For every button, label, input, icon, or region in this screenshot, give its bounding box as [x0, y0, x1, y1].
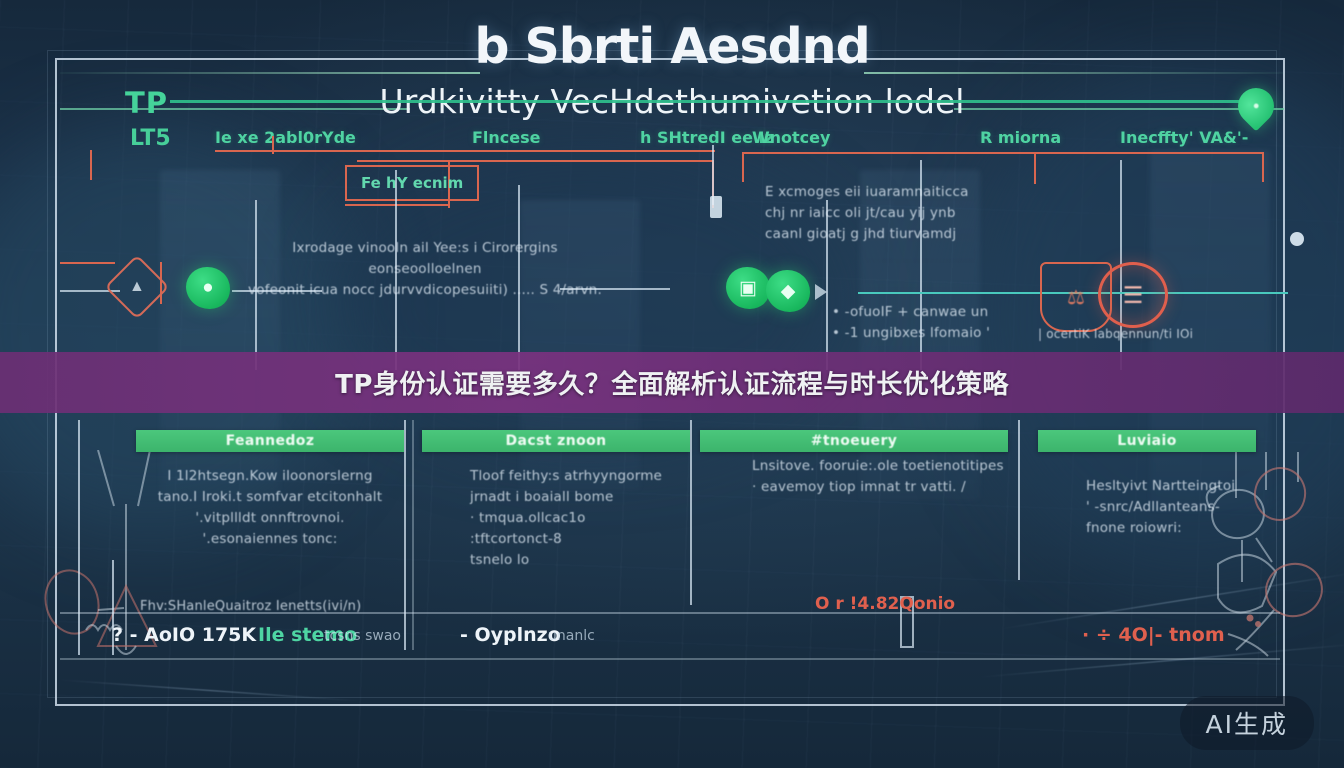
paragraph-left: Ixrodage vinooln ail Yee:s i Cirorergins… — [235, 238, 615, 301]
card-body-0: I 1l2htsegn.Kow iloonorslerng tano.I Iro… — [150, 466, 390, 550]
play-arrow-icon — [812, 282, 830, 302]
card-header-label-1: Dacst znoon — [506, 433, 607, 449]
poster-canvas: b Sbrti Aesdnd Urdkivitty VecHdethumivet… — [0, 0, 1344, 768]
connector-coral-h6 — [345, 204, 450, 206]
page-title: b Sbrti Aesdnd — [0, 18, 1344, 75]
tag-label-1: Flncese — [472, 128, 541, 147]
legend-item-1-sub2: tcsns swao — [324, 628, 401, 644]
node-dot-right[interactable] — [1290, 232, 1304, 246]
legend-left-note: Fhv:SHanleQuaitroz Ienetts(ivi/n) — [140, 597, 440, 617]
card-header-label-2: #tnoeuery — [811, 433, 898, 449]
card-header-2[interactable]: #tnoeuery — [700, 430, 1008, 452]
headline-banner: TP身份认证需要多久？全面解析认证流程与时长优化策略 — [0, 352, 1344, 413]
tag-label-5: Inecffty' VA&'- — [1120, 128, 1248, 147]
connector-coral-v5 — [1262, 152, 1264, 182]
card-body-2: Lnsitove. fooruie:.ole toetienotitipes ·… — [752, 456, 1032, 498]
paragraph-right-bullets: • -ofuoIF + canwae un • -1 ungibxes lfom… — [832, 302, 1062, 344]
tag-label-3: Wnotcey — [752, 128, 830, 147]
connector-coral-h5 — [60, 262, 115, 264]
connector-coral-h2 — [357, 160, 712, 162]
card-header-label-3: Luviaio — [1117, 433, 1176, 449]
guide-node-handle[interactable] — [710, 196, 722, 218]
connector-coral-v4 — [1034, 152, 1036, 184]
legend-red-item: · ÷ 4O|- tnom — [1082, 624, 1225, 646]
user-circle-icon-b[interactable]: ◆ — [766, 270, 810, 312]
legend-red-note: O r !4.82Qonio — [815, 594, 955, 614]
verify-circle-icon[interactable]: ● — [186, 267, 230, 309]
ai-watermark: AI生成 — [1180, 696, 1314, 750]
card-divider-3 — [1018, 420, 1020, 580]
card-header-label-0: Feannedoz — [226, 433, 315, 449]
connector-coral-v1 — [272, 136, 274, 154]
headline-text: TP身份认证需要多久？全面解析认证流程与时长优化策略 — [335, 364, 1009, 401]
tag-label-0: Ie xe 2abl0rYde — [215, 128, 356, 147]
fingerprint-ring-icon: ☰ — [1098, 262, 1168, 328]
card-header-0[interactable]: Feannedoz — [136, 430, 404, 452]
card-divider-edge — [78, 420, 80, 655]
connector-coral-v6 — [90, 150, 92, 180]
connector-coral-v3 — [742, 152, 744, 182]
card-header-3[interactable]: Luviaio — [1038, 430, 1256, 452]
tp-label: TP — [125, 86, 168, 120]
legend-item-2-sub: unanlc — [548, 628, 595, 644]
card-body-1: Tloof feithy:s atrhyyngorme jrnadt i boa… — [470, 466, 670, 571]
mini-box-label: Fe hY ecnim — [345, 165, 479, 201]
user-circle-icon-a[interactable]: ▣ — [726, 267, 770, 309]
legend-item-1: ? - AoIO 175K — [112, 624, 256, 646]
shield-caption: | ocertiK Iabqennun/ti IOi — [1038, 325, 1288, 344]
connector-coral-h3 — [470, 150, 715, 152]
connector-coral-h4 — [742, 152, 1262, 154]
legend-item-2: - Oyplnzo — [460, 624, 561, 646]
tp-connector-line — [170, 100, 1242, 103]
legend-rule-bottom — [60, 658, 1280, 660]
paragraph-right: E xcmoges eii iuaramnaiticca chj nr iaic… — [765, 182, 975, 245]
card-header-1[interactable]: Dacst znoon — [422, 430, 690, 452]
card-body-3: Hesltyivt Nartteingtoi ' -snrc/Adllantea… — [1086, 476, 1286, 539]
lts-label: LT5 — [130, 126, 171, 151]
tag-label-4: R miorna — [980, 128, 1061, 147]
card-divider-2 — [690, 420, 692, 605]
